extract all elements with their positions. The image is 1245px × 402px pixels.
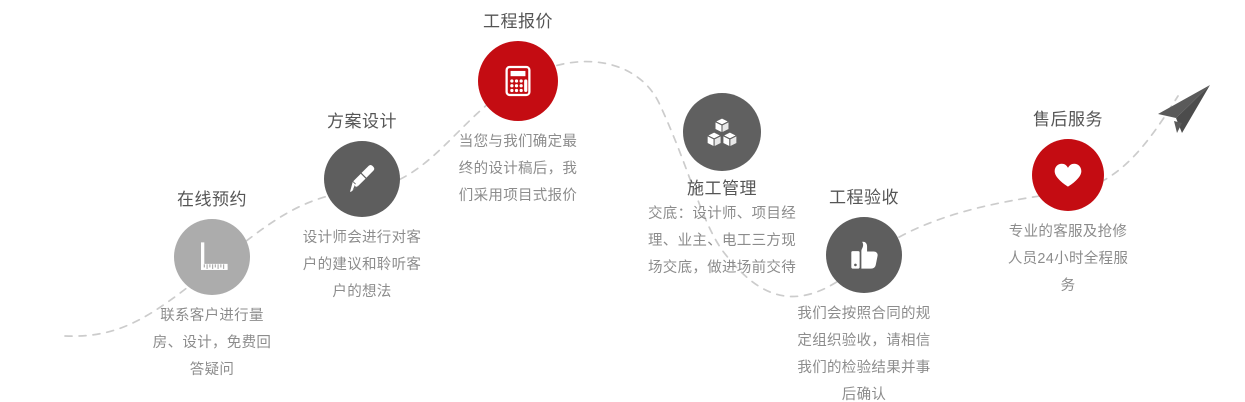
step-3-title: 工程报价 (418, 10, 618, 34)
ruler-triangle-icon (174, 219, 250, 295)
step-6-description: 专业的客服及抢修 人员24小时全程服 务 (968, 219, 1168, 300)
step-3-desc-line: 当您与我们确定最 (418, 129, 618, 156)
process-flow-diagram: 在线预约 联系客户进行量 房、设计，免费回 答疑问 (0, 0, 1245, 402)
step-5-desc-line: 我们会按照合同的规 (756, 301, 972, 328)
step-6-after-sales-service[interactable]: 售后服务 专业的客服及抢修 人员24小时全程服 务 (968, 108, 1168, 300)
step-5-title: 工程验收 (764, 186, 964, 210)
step-3-desc-line: 终的设计稿后，我 (418, 156, 618, 183)
fountain-pen-icon (324, 141, 400, 217)
step-6-desc-line: 人员24小时全程服 (968, 246, 1168, 273)
step-5-description: 我们会按照合同的规 定组织验收，请相信 我们的检验结果并事 后确认 (756, 301, 972, 402)
step-1-desc-line: 联系客户进行量 (112, 303, 312, 330)
calculator-icon (478, 41, 558, 121)
step-1-description: 联系客户进行量 房、设计，免费回 答疑问 (112, 303, 312, 384)
step-2-desc-line: 设计师会进行对客 (262, 225, 462, 252)
step-6-desc-line: 专业的客服及抢修 (968, 219, 1168, 246)
step-2-description: 设计师会进行对客 户的建议和聆听客 户的想法 (262, 225, 462, 306)
step-5-desc-line: 定组织验收，请相信 (756, 328, 972, 355)
step-3-desc-line: 们采用项目式报价 (418, 183, 618, 210)
boxes-icon (683, 93, 761, 171)
step-3-project-quotation[interactable]: 工程报价 当您与我们确定最 (418, 10, 618, 210)
step-5-desc-line: 我们的检验结果并事 (756, 355, 972, 382)
step-1-desc-line: 答疑问 (112, 357, 312, 384)
step-2-desc-line: 户的建议和聆听客 (262, 252, 462, 279)
step-2-desc-line: 户的想法 (262, 279, 462, 306)
step-3-description: 当您与我们确定最 终的设计稿后，我 们采用项目式报价 (418, 129, 618, 210)
step-6-desc-line: 务 (968, 273, 1168, 300)
heart-icon (1032, 139, 1104, 211)
thumbs-up-icon (826, 217, 902, 293)
step-5-project-acceptance[interactable]: 工程验收 我们会按照合同的规 定组织验收，请相信 我们的检验结果并事 后确认 (764, 186, 964, 402)
step-6-title: 售后服务 (968, 108, 1168, 132)
step-1-desc-line: 房、设计，免费回 (112, 330, 312, 357)
step-5-desc-line: 后确认 (756, 382, 972, 402)
